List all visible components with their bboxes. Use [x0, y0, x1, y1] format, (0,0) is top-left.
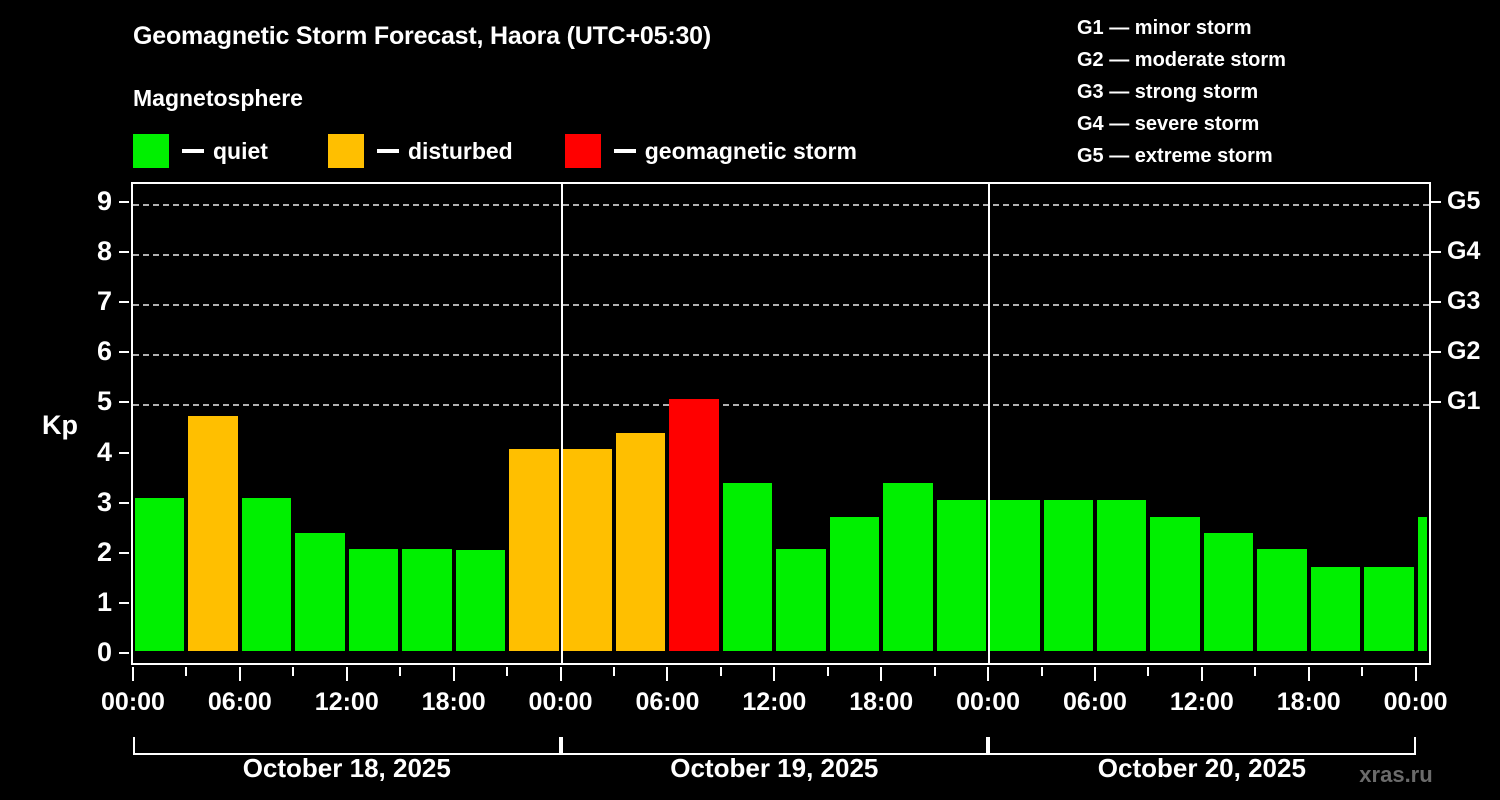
x-tick-label: 18:00	[849, 688, 913, 717]
bar-kp	[616, 433, 665, 651]
legend-label: disturbed	[408, 138, 513, 165]
bar-kp	[1311, 567, 1360, 651]
quiet-swatch	[133, 134, 169, 168]
plot-inner	[133, 184, 1429, 663]
x-tick-major	[239, 667, 241, 681]
y-tick-1	[119, 602, 129, 604]
x-tick-label: 06:00	[635, 688, 699, 717]
day-label: October 19, 2025	[670, 753, 878, 784]
g-tick-g2	[1431, 351, 1441, 353]
y-tick-9	[119, 201, 129, 203]
bar-kp	[456, 550, 505, 651]
g-legend-row-g4: G4 — severe storm	[1077, 108, 1286, 140]
x-tick-minor	[827, 667, 829, 676]
x-tick-label: 18:00	[422, 688, 486, 717]
legend-label: quiet	[213, 138, 268, 165]
storm-swatch	[565, 134, 601, 168]
bar-kp	[776, 549, 825, 651]
x-tick-label: 00:00	[529, 688, 593, 717]
bar-kp	[723, 483, 772, 651]
disturbed-swatch	[328, 134, 364, 168]
g-axis-label-g4: G4	[1447, 239, 1480, 264]
x-tick-minor	[720, 667, 722, 676]
g-legend-row-g2: G2 — moderate storm	[1077, 44, 1286, 76]
bar-kp	[1418, 517, 1427, 651]
day-label: October 18, 2025	[243, 753, 451, 784]
bar-kp	[830, 517, 879, 651]
y-tick-2	[119, 552, 129, 554]
g-axis-label-g5: G5	[1447, 189, 1480, 214]
g-axis-label-g1: G1	[1447, 389, 1480, 414]
color-legend: quietdisturbedgeomagnetic storm	[133, 133, 857, 169]
x-tick-minor	[613, 667, 615, 676]
bar-kp	[1204, 533, 1253, 651]
x-tick-major	[987, 667, 989, 681]
y-tick-label: 8	[72, 238, 112, 265]
g-legend-row-g3: G3 — strong storm	[1077, 76, 1286, 108]
x-tick-label: 18:00	[1277, 688, 1341, 717]
x-tick-minor	[399, 667, 401, 676]
x-tick-label: 06:00	[208, 688, 272, 717]
watermark: xras.ru	[1359, 762, 1432, 788]
x-tick-major	[560, 667, 562, 681]
x-tick-minor	[1361, 667, 1363, 676]
x-tick-label: 00:00	[1384, 688, 1448, 717]
x-tick-minor	[185, 667, 187, 676]
bar-kp	[349, 549, 398, 651]
y-tick-label: 7	[72, 288, 112, 315]
x-tick-major	[1415, 667, 1417, 681]
bar-kp	[563, 449, 612, 651]
bar-kp	[669, 399, 718, 651]
legend-label: geomagnetic storm	[645, 138, 857, 165]
chart-plot-area	[131, 182, 1431, 665]
x-tick-major	[453, 667, 455, 681]
y-tick-label: 9	[72, 188, 112, 215]
legend-dash-icon	[377, 149, 399, 153]
bar-kp	[990, 500, 1039, 651]
y-tick-label: 5	[72, 388, 112, 415]
bar-kp	[188, 416, 237, 651]
legend-entry: disturbed	[328, 133, 513, 169]
day-label: October 20, 2025	[1098, 753, 1306, 784]
bar-kp	[402, 549, 451, 651]
x-tick-minor	[1041, 667, 1043, 676]
x-tick-major	[132, 667, 134, 681]
magnetosphere-section-label: Magnetosphere	[133, 85, 303, 112]
bar-kp	[883, 483, 932, 651]
x-tick-minor	[292, 667, 294, 676]
bar-kp	[509, 449, 558, 651]
y-tick-6	[119, 351, 129, 353]
bar-kp	[1364, 567, 1413, 651]
y-tick-label: 3	[72, 489, 112, 516]
y-axis-title: Kp	[42, 410, 78, 441]
y-tick-3	[119, 502, 129, 504]
legend-entry: geomagnetic storm	[565, 133, 857, 169]
x-tick-minor	[506, 667, 508, 676]
x-tick-label: 00:00	[956, 688, 1020, 717]
g-tick-g5	[1431, 201, 1441, 203]
page-title: Geomagnetic Storm Forecast, Haora (UTC+0…	[133, 22, 711, 51]
x-tick-minor	[934, 667, 936, 676]
x-tick-major	[346, 667, 348, 681]
g-tick-g4	[1431, 251, 1441, 253]
y-tick-4	[119, 452, 129, 454]
x-tick-label: 00:00	[101, 688, 165, 717]
y-tick-label: 4	[72, 439, 112, 466]
y-tick-label: 1	[72, 589, 112, 616]
x-tick-major	[1094, 667, 1096, 681]
legend-dash-icon	[614, 149, 636, 153]
g-tick-g1	[1431, 401, 1441, 403]
legend-dash-icon	[182, 149, 204, 153]
bar-kp	[1044, 500, 1093, 651]
g-tick-g3	[1431, 301, 1441, 303]
g-legend-row-g1: G1 — minor storm	[1077, 12, 1286, 44]
legend-entry: quiet	[133, 133, 268, 169]
bar-kp	[135, 498, 184, 651]
g-legend-row-g5: G5 — extreme storm	[1077, 140, 1286, 172]
y-tick-7	[119, 301, 129, 303]
x-tick-minor	[1254, 667, 1256, 676]
bar-kp	[295, 533, 344, 651]
x-tick-major	[773, 667, 775, 681]
g-scale-legend: G1 — minor stormG2 — moderate stormG3 — …	[1077, 12, 1286, 172]
day-divider	[561, 184, 563, 663]
x-tick-label: 12:00	[742, 688, 806, 717]
y-tick-label: 0	[72, 639, 112, 666]
x-tick-major	[880, 667, 882, 681]
x-tick-minor	[1147, 667, 1149, 676]
day-divider	[988, 184, 990, 663]
g-axis-label-g3: G3	[1447, 289, 1480, 314]
y-tick-8	[119, 251, 129, 253]
y-tick-0	[119, 652, 129, 654]
x-tick-major	[666, 667, 668, 681]
bar-kp	[937, 500, 986, 651]
bar-kp	[1150, 517, 1199, 651]
y-tick-label: 6	[72, 338, 112, 365]
x-tick-major	[1308, 667, 1310, 681]
bars-container	[133, 184, 1429, 663]
g-axis-label-g2: G2	[1447, 339, 1480, 364]
x-tick-label: 06:00	[1063, 688, 1127, 717]
bar-kp	[242, 498, 291, 651]
bar-kp	[1257, 549, 1306, 651]
y-tick-label: 2	[72, 539, 112, 566]
y-tick-5	[119, 401, 129, 403]
bar-kp	[1097, 500, 1146, 651]
x-tick-label: 12:00	[315, 688, 379, 717]
x-tick-major	[1201, 667, 1203, 681]
x-tick-label: 12:00	[1170, 688, 1234, 717]
